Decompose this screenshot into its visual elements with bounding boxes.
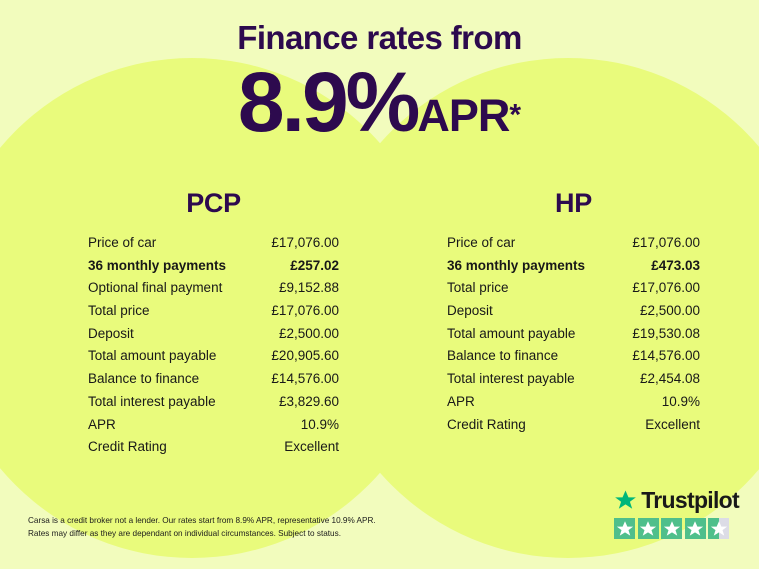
row-value: £17,076.00 (632, 235, 700, 250)
row-label: Total amount payable (88, 348, 216, 363)
promo-graphic: Finance rates from 8.9%APR* PCP Price of… (0, 0, 759, 569)
star-tile (614, 518, 635, 539)
trustpilot-rating-stars (614, 518, 739, 539)
row-value: 10.9% (662, 394, 700, 409)
table-row: Total interest payable £2,454.08 (447, 371, 700, 394)
row-value: 10.9% (301, 417, 339, 432)
row-label: 36 monthly payments (447, 258, 585, 273)
row-label: Deposit (88, 326, 134, 341)
table-row: APR 10.9% (447, 394, 700, 417)
row-label: 36 monthly payments (88, 258, 226, 273)
row-label: Price of car (447, 235, 515, 250)
row-value: Excellent (645, 417, 700, 432)
row-value: £19,530.08 (632, 326, 700, 341)
star-tile (661, 518, 682, 539)
row-value: £3,829.60 (279, 394, 339, 409)
row-value: £17,076.00 (632, 280, 700, 295)
disclaimer-text: Carsa is a credit broker not a lender. O… (28, 515, 458, 540)
rate-apr-label: APR (417, 90, 509, 141)
row-label: APR (447, 394, 475, 409)
table-row: Total amount payable £19,530.08 (447, 326, 700, 349)
table-row: Total amount payable £20,905.60 (88, 348, 339, 371)
table-row: Balance to finance £14,576.00 (88, 371, 339, 394)
page-title: Finance rates from (0, 0, 759, 54)
row-label: Optional final payment (88, 280, 222, 295)
table-row: Credit Rating Excellent (447, 417, 700, 440)
trustpilot-star-icon (614, 489, 637, 512)
row-label: Credit Rating (88, 439, 167, 454)
finance-tables: PCP Price of car £17,076.00 36 monthly p… (0, 190, 759, 462)
row-label: Total price (447, 280, 509, 295)
rate-asterisk: * (509, 99, 521, 132)
table-row: Price of car £17,076.00 (88, 235, 339, 258)
row-label: Credit Rating (447, 417, 526, 432)
table-row: 36 monthly payments £257.02 (88, 258, 339, 281)
row-label: Total interest payable (447, 371, 575, 386)
star-tile (685, 518, 706, 539)
row-value: £14,576.00 (632, 348, 700, 363)
trustpilot-badge: Trustpilot (614, 489, 739, 539)
table-hp-title: HP (447, 190, 700, 217)
table-pcp-title: PCP (88, 190, 339, 217)
row-value: £2,500.00 (640, 303, 700, 318)
disclaimer-line-2: Rates may differ as they are dependant o… (28, 528, 458, 541)
row-label: APR (88, 417, 116, 432)
headline-rate: 8.9%APR* (0, 54, 759, 144)
row-value: £257.02 (290, 258, 339, 273)
row-value: £9,152.88 (279, 280, 339, 295)
table-row: Price of car £17,076.00 (447, 235, 700, 258)
row-value: £14,576.00 (271, 371, 339, 386)
table-row: Total price £17,076.00 (447, 280, 700, 303)
table-row: Total interest payable £3,829.60 (88, 394, 339, 417)
row-value: £473.03 (651, 258, 700, 273)
trustpilot-wordmark: Trustpilot (614, 489, 739, 512)
table-pcp: PCP Price of car £17,076.00 36 monthly p… (0, 190, 379, 462)
row-label: Total amount payable (447, 326, 575, 341)
table-row: Credit Rating Excellent (88, 439, 339, 462)
row-value: £17,076.00 (271, 303, 339, 318)
row-value: £2,454.08 (640, 371, 700, 386)
rate-value: 8.9% (238, 55, 417, 149)
row-label: Balance to finance (88, 371, 199, 386)
table-row: Total price £17,076.00 (88, 303, 339, 326)
row-label: Total price (88, 303, 150, 318)
row-label: Balance to finance (447, 348, 558, 363)
table-row: Deposit £2,500.00 (447, 303, 700, 326)
row-value: £20,905.60 (271, 348, 339, 363)
row-value: £2,500.00 (279, 326, 339, 341)
table-row: 36 monthly payments £473.03 (447, 258, 700, 281)
table-hp: HP Price of car £17,076.00 36 monthly pa… (379, 190, 758, 462)
disclaimer-line-1: Carsa is a credit broker not a lender. O… (28, 515, 458, 528)
table-row: APR 10.9% (88, 417, 339, 440)
row-value: £17,076.00 (271, 235, 339, 250)
row-label: Deposit (447, 303, 493, 318)
row-label: Price of car (88, 235, 156, 250)
table-row: Optional final payment £9,152.88 (88, 280, 339, 303)
row-value: Excellent (284, 439, 339, 454)
trustpilot-label: Trustpilot (641, 489, 739, 512)
table-row: Deposit £2,500.00 (88, 326, 339, 349)
table-row: Balance to finance £14,576.00 (447, 348, 700, 371)
star-tile-half (708, 518, 729, 539)
row-label: Total interest payable (88, 394, 216, 409)
star-tile (638, 518, 659, 539)
header: Finance rates from 8.9%APR* (0, 0, 759, 144)
